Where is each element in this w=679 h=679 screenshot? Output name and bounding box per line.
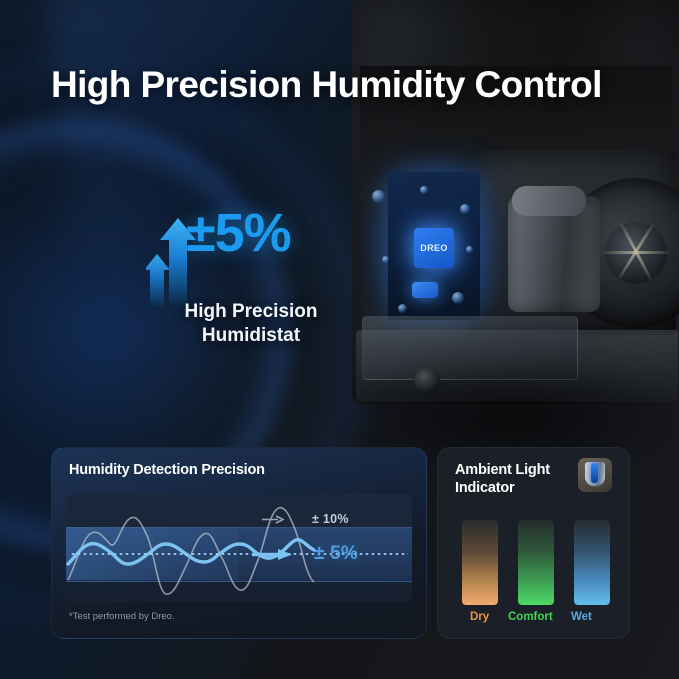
bubble-icon — [420, 186, 428, 194]
bar-fill — [574, 520, 610, 605]
secondary-chip — [412, 282, 438, 298]
bubble-icon — [372, 190, 385, 203]
bubble-icon — [452, 292, 464, 304]
precision-value: ±5% — [186, 206, 291, 260]
bar-fill — [462, 520, 498, 605]
card-footnote: *Test performed by Dreo. — [69, 611, 175, 622]
bar-label-wet: Wet — [571, 611, 592, 623]
precision-chart: ± 10% ± 5% — [66, 494, 412, 602]
ambient-bar-dry — [462, 520, 498, 605]
card-title: Ambient Light Indicator — [455, 462, 575, 497]
bubble-icon — [460, 204, 470, 214]
arrow-right-icon — [262, 515, 286, 524]
bubble-icon — [398, 304, 407, 313]
bubble-icon — [466, 246, 473, 253]
bar-fill — [518, 520, 554, 605]
ambient-bar-wet — [574, 520, 610, 605]
humidity-precision-card: Humidity Detection Precision ± 10% — [51, 447, 427, 639]
tolerance-label-5: ± 5% — [314, 543, 358, 565]
tolerance-row-5: ± 5% — [252, 542, 412, 566]
chip-label: DREO — [420, 243, 448, 253]
precision-subtitle-line2: Humidistat — [146, 324, 356, 348]
dreo-chip: DREO — [414, 228, 454, 268]
precision-subtitle-line1: High Precision — [146, 300, 356, 324]
bubble-icon — [382, 256, 389, 263]
card-title-line2: Indicator — [455, 480, 575, 498]
humidifier-thumbnail-icon — [578, 458, 612, 492]
product-feature-banner: DREO High Precision Humidity Control — [0, 0, 679, 679]
tolerance-row-10: ± 10% — [262, 508, 412, 530]
card-title-line1: Ambient Light — [455, 462, 575, 480]
bar-label-dry: Dry — [470, 611, 489, 623]
precision-subtitle: High Precision Humidistat — [146, 300, 356, 347]
page-title: High Precision Humidity Control — [51, 64, 651, 106]
bar-label-comfort: Comfort — [508, 611, 553, 623]
card-title: Humidity Detection Precision — [69, 462, 265, 478]
ambient-light-card: Ambient Light Indicator Dry Comfort Wet — [437, 447, 630, 639]
ambient-bar-comfort — [518, 520, 554, 605]
ambient-bars-group — [462, 520, 610, 605]
thumbnail-glow — [591, 463, 598, 483]
tolerance-label-10: ± 10% — [312, 512, 349, 526]
arrow-right-bold-icon — [252, 548, 294, 561]
motor-cylinder-top — [512, 186, 586, 216]
